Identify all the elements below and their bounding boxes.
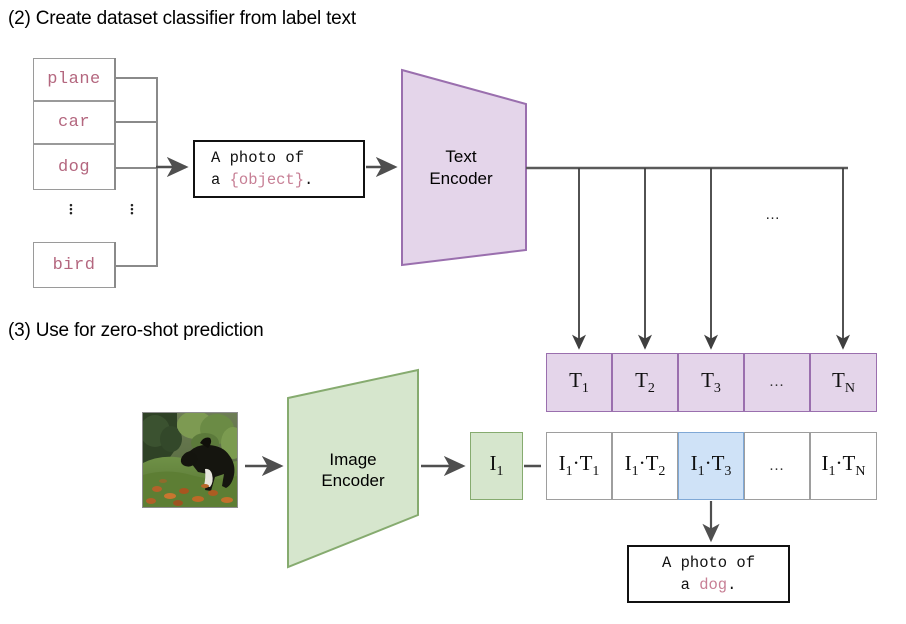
input-image-thumbnail[interactable] [142, 412, 238, 508]
similarity-label-1: I1·T1 [559, 451, 600, 480]
output-line-2: a dog. [629, 574, 788, 596]
label-text-dog: dog [58, 158, 90, 177]
connector-guide-lower [114, 242, 116, 288]
similarity-cell-3-selected[interactable]: I1·T3 [678, 432, 744, 500]
similarity-cell-n[interactable]: I1·TN [810, 432, 877, 500]
prompt-line-2-prefix: a [211, 171, 230, 189]
text-embedding-cell-1[interactable]: T1 [546, 353, 612, 412]
text-encoder-line-2: Encoder [429, 168, 492, 189]
step3-heading: (3) Use for zero-shot prediction [8, 320, 263, 342]
input-image-artwork [143, 413, 237, 507]
text-embedding-label-2: T2 [635, 368, 655, 397]
text-encoder-block[interactable]: Text Encoder [396, 70, 526, 265]
similarity-ellipsis: … [769, 458, 785, 475]
label-box-car[interactable]: car [33, 101, 115, 144]
bus-ellipsis: … [765, 206, 781, 223]
label-text-plane: plane [47, 70, 101, 89]
text-embedding-cell-3[interactable]: T3 [678, 353, 744, 412]
output-line-2-suffix: . [727, 576, 736, 594]
similarity-label-n: I1·TN [822, 451, 866, 480]
label-box-plane[interactable]: plane [33, 58, 115, 101]
prompt-line-2: a {object}. [195, 169, 363, 191]
label-list-ellipsis-right: ••• [125, 203, 139, 215]
similarity-label-3: I1·T3 [691, 451, 732, 480]
label-box-bird[interactable]: bird [33, 242, 115, 288]
connector-dog [114, 167, 158, 169]
label-list-ellipsis-left: ••• [64, 203, 78, 215]
text-encoder-line-1: Text [429, 146, 492, 167]
output-prediction-box[interactable]: A photo of a dog. [627, 545, 790, 603]
image-encoder-line-1: Image [321, 449, 384, 470]
text-embedding-cell-ellipsis: … [744, 353, 810, 412]
prompt-template-box[interactable]: A photo of a {object}. [193, 140, 365, 198]
connector-spine [156, 77, 158, 266]
image-encoder-block[interactable]: Image Encoder [288, 370, 418, 570]
similarity-label-2: I1·T2 [625, 451, 666, 480]
image-embedding-label: I1 [490, 451, 504, 480]
prompt-line-2-suffix: . [304, 171, 313, 189]
similarity-cell-1[interactable]: I1·T1 [546, 432, 612, 500]
similarity-cell-ellipsis: … [744, 432, 810, 500]
text-embedding-ellipsis: … [769, 374, 785, 391]
image-embedding-box[interactable]: I1 [470, 432, 523, 500]
step2-heading: (2) Create dataset classifier from label… [8, 8, 356, 30]
text-embedding-cell-2[interactable]: T2 [612, 353, 678, 412]
output-line-1: A photo of [629, 552, 788, 574]
connector-guide-upper [114, 58, 116, 190]
diagram-canvas: (2) Create dataset classifier from label… [0, 0, 906, 624]
image-encoder-line-2: Encoder [321, 470, 384, 491]
label-box-dog[interactable]: dog [33, 144, 115, 190]
label-text-car: car [58, 113, 90, 132]
output-predicted-class: dog [699, 576, 727, 594]
text-embedding-label-n: TN [832, 368, 855, 397]
text-embedding-label-1: T1 [569, 368, 589, 397]
text-embedding-label-3: T3 [701, 368, 721, 397]
prompt-object-slot: {object} [230, 171, 304, 189]
similarity-cell-2[interactable]: I1·T2 [612, 432, 678, 500]
connector-car [114, 121, 158, 123]
connector-bird [114, 265, 158, 267]
label-text-bird: bird [53, 256, 96, 275]
prompt-line-1: A photo of [195, 147, 363, 169]
connector-plane [114, 77, 158, 79]
text-embedding-cell-n[interactable]: TN [810, 353, 877, 412]
output-line-2-prefix: a [681, 576, 700, 594]
